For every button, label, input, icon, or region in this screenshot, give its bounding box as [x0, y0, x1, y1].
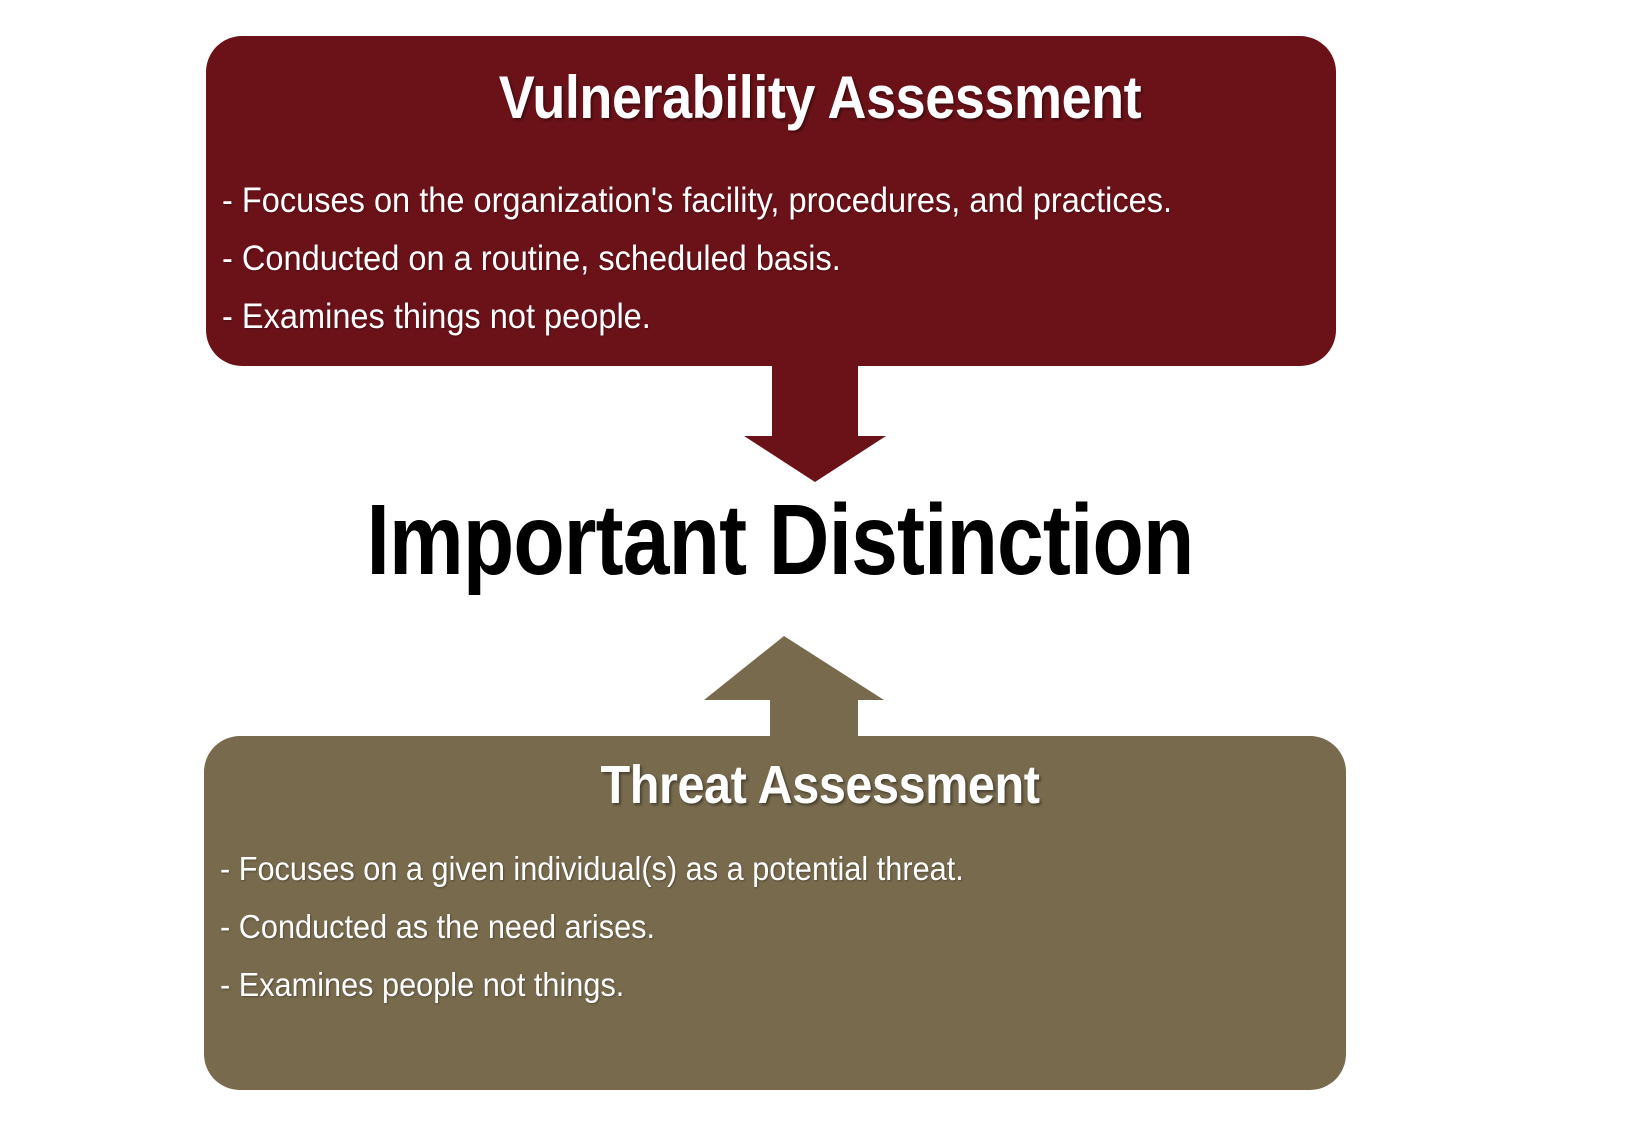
list-item: - Focuses on a given individual(s) as a … [220, 840, 964, 898]
vulnerability-assessment-bullets: - Focuses on the organization's facility… [222, 172, 1244, 346]
vulnerability-assessment-title: Vulnerability Assessment [82, 62, 1558, 134]
list-item: - Examines things not people. [222, 288, 1172, 346]
list-item: - Conducted on a routine, scheduled basi… [222, 230, 1172, 288]
list-item: - Conducted as the need arises. [220, 898, 964, 956]
down-arrow-icon [730, 352, 900, 484]
page-title: Important Distinction [125, 484, 1435, 596]
threat-assessment-bullets: - Focuses on a given individual(s) as a … [220, 840, 1020, 1014]
list-item: - Focuses on the organization's facility… [222, 172, 1172, 230]
threat-assessment-title: Threat Assessment [82, 752, 1558, 818]
up-arrow-icon [696, 606, 896, 742]
list-item: - Examines people not things. [220, 956, 964, 1014]
diagram-canvas: Vulnerability Assessment - Focuses on th… [0, 0, 1640, 1123]
